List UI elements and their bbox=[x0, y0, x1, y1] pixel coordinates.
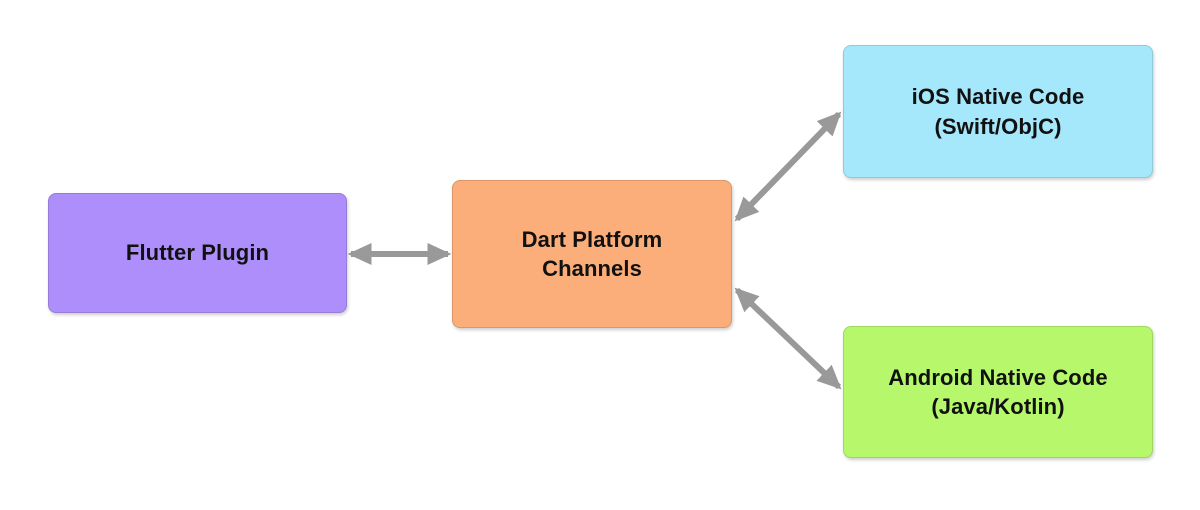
node-android-native-code-label: Android Native Code (Java/Kotlin) bbox=[888, 363, 1107, 421]
diagram-canvas: Flutter Plugin Dart Platform Channels iO… bbox=[0, 0, 1200, 510]
node-ios-native-code-label: iOS Native Code (Swift/ObjC) bbox=[912, 82, 1085, 140]
node-android-native-code[interactable]: Android Native Code (Java/Kotlin) bbox=[843, 326, 1153, 458]
edge-channels-to-ios bbox=[737, 114, 839, 219]
node-dart-platform-channels[interactable]: Dart Platform Channels bbox=[452, 180, 732, 328]
edge-channels-to-android bbox=[737, 290, 839, 387]
node-ios-native-code[interactable]: iOS Native Code (Swift/ObjC) bbox=[843, 45, 1153, 178]
node-flutter-plugin[interactable]: Flutter Plugin bbox=[48, 193, 347, 313]
node-flutter-plugin-label: Flutter Plugin bbox=[126, 238, 269, 267]
node-dart-platform-channels-label: Dart Platform Channels bbox=[522, 225, 663, 283]
